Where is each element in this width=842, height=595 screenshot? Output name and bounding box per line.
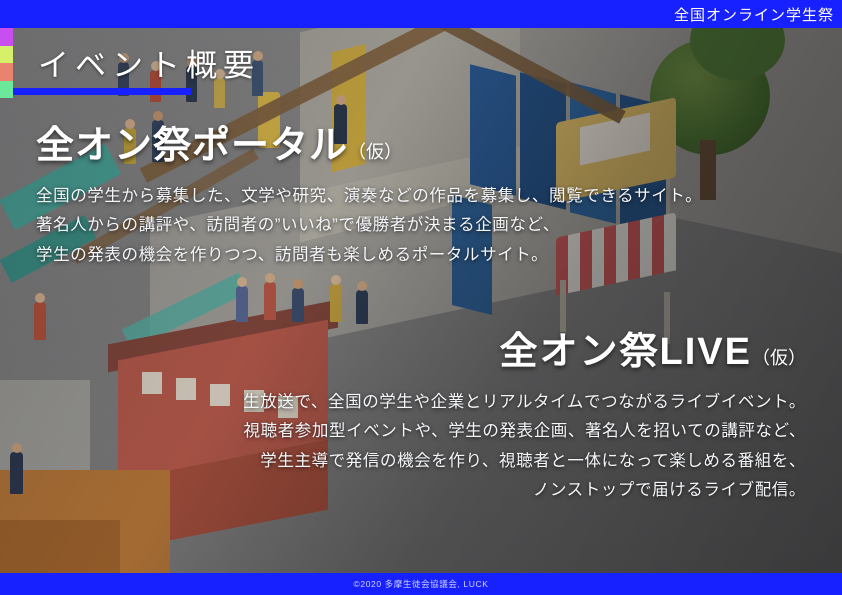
footer-bar: ©2020 多摩生徒会協議会, LUCK <box>0 573 842 595</box>
accent-color-strip <box>0 28 13 98</box>
block-live-heading-text: 全オン祭LIVE <box>500 331 752 373</box>
footer-copyright: ©2020 多摩生徒会協議会, LUCK <box>354 578 489 590</box>
block-live-line-2: 視聴者参加型イベントや、学生の発表企画、著名人を招いての講評など、 <box>46 417 806 447</box>
section-title-underline <box>13 88 191 95</box>
block-live-body: 生放送で、全国の学生や企業とリアルタイムでつながるライブイベント。 視聴者参加型… <box>46 388 806 506</box>
accent-swatch-4 <box>0 81 13 99</box>
slide-event-overview: 全国オンライン学生祭 イベント概要 全オン祭ポータル（仮） 全国の学生から募集し… <box>0 0 842 595</box>
section-title: イベント概要 <box>38 40 260 85</box>
top-brand-bar: 全国オンライン学生祭 <box>0 0 842 28</box>
block-live-heading: 全オン祭LIVE（仮） <box>46 332 806 374</box>
accent-swatch-2 <box>0 46 13 64</box>
block-portal-heading: 全オン祭ポータル（仮） <box>36 126 776 168</box>
block-portal-body: 全国の学生から募集した、文学や研究、演奏などの作品を募集し、閲覧できるサイト。 … <box>36 182 776 271</box>
block-portal-line-3: 学生の発表の機会を作りつつ、訪問者も楽しめるポータルサイト。 <box>36 241 776 271</box>
accent-swatch-3 <box>0 63 13 81</box>
block-portal-heading-note: （仮） <box>348 142 402 162</box>
block-live: 全オン祭LIVE（仮） 生放送で、全国の学生や企業とリアルタイムでつながるライブ… <box>46 332 806 506</box>
block-portal: 全オン祭ポータル（仮） 全国の学生から募集した、文学や研究、演奏などの作品を募集… <box>36 126 776 270</box>
block-portal-line-2: 著名人からの講評や、訪問者の”いいね”で優勝者が決まる企画など、 <box>36 211 776 241</box>
block-live-heading-note: （仮） <box>752 348 806 368</box>
accent-swatch-1 <box>0 28 13 46</box>
block-live-line-1: 生放送で、全国の学生や企業とリアルタイムでつながるライブイベント。 <box>46 388 806 418</box>
block-portal-heading-text: 全オン祭ポータル <box>36 125 348 167</box>
block-live-line-4: ノンストップで届けるライブ配信。 <box>46 476 806 506</box>
block-live-line-3: 学生主導で発信の機会を作り、視聴者と一体になって楽しめる番組を、 <box>46 447 806 477</box>
block-portal-line-1: 全国の学生から募集した、文学や研究、演奏などの作品を募集し、閲覧できるサイト。 <box>36 182 776 212</box>
brand-title: 全国オンライン学生祭 <box>674 4 842 25</box>
